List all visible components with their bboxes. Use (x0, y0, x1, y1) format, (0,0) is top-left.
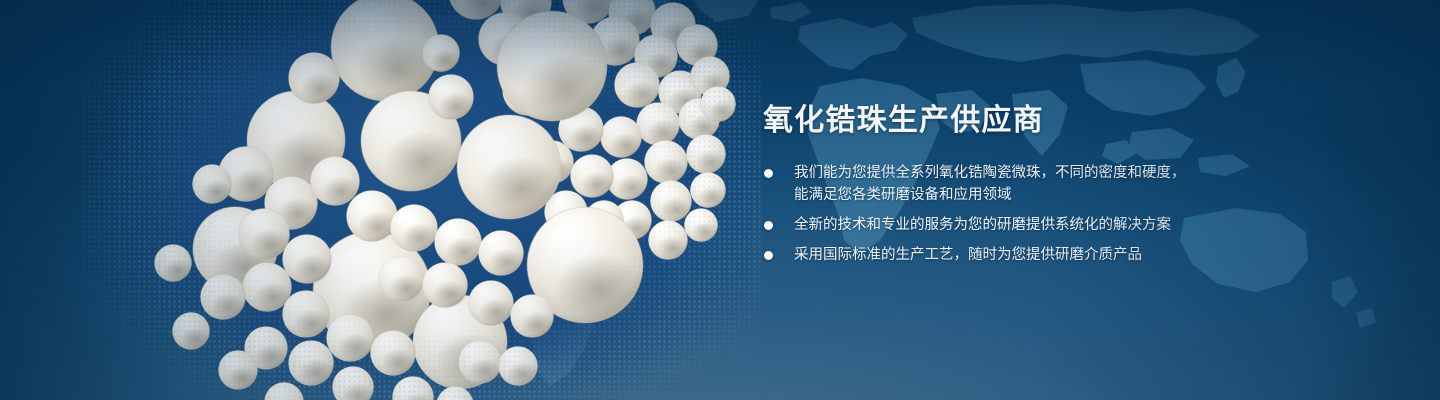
hero-banner: 氧化锆珠生产供应商 我们能为您提供全系列氧化锆陶瓷微珠，不同的密度和硬度， 能满… (0, 0, 1440, 400)
background-vignette (0, 0, 1440, 400)
